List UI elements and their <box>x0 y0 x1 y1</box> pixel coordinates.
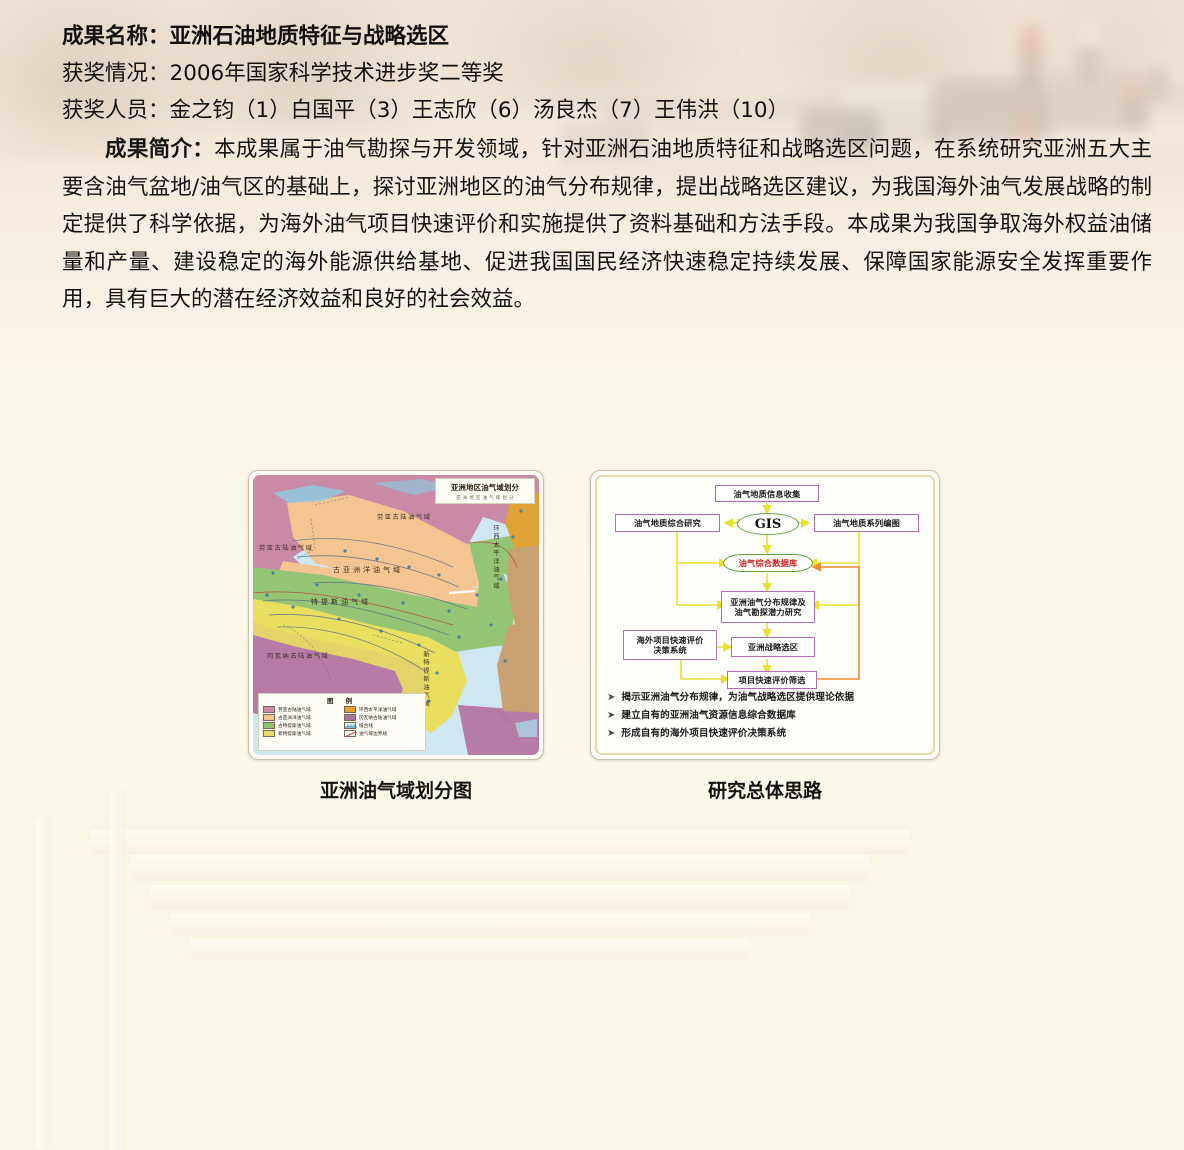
map-region-label: 冈瓦纳古陆油气域 <box>267 651 329 660</box>
flow-bullet-text: 建立自有的亚洲油气资源信息综合数据库 <box>621 709 796 722</box>
map-subtitle-text: 亚 洲 地 区 油 气 域 划 分 <box>456 495 513 501</box>
figure-caption-map: 亚洲油气域划分图 <box>248 776 544 803</box>
map-frame: 亚洲地区油气域划分 亚 洲 地 区 油 气 域 划 分 劳亚古陆油气域 劳亚古陆… <box>248 470 544 760</box>
achievement-title-label: 成果名称： <box>62 24 170 49</box>
legend-swatch-icon <box>263 706 275 713</box>
legend-swatch-icon <box>344 706 356 713</box>
map-region-label: 劳亚古陆油气域 <box>377 512 432 521</box>
legend-swatch-icon <box>263 714 275 721</box>
awardees-line: 获奖人员：金之钧（1）白国平（3）王志欣（6）汤良杰（7）王伟洪（10） <box>62 92 1152 129</box>
map-legend-label: 新特提斯油气域 <box>278 731 311 737</box>
slide-content: 成果名称：亚洲石油地质特征与战略选区 获奖情况：2006年国家科学技术进步奖二等… <box>0 0 1184 814</box>
flow-node-screening[interactable]: 项目快速评价筛选 <box>727 671 817 689</box>
chevron-right-icon: ➤ <box>607 727 615 740</box>
flow-bullet-list: ➤ 揭示亚洲油气分布规律，为油气战略选区提供理论依据 ➤ 建立自有的亚洲油气资源… <box>607 691 927 745</box>
map-legend-label: 油气域边界线 <box>359 731 387 737</box>
flow-bullet-item: ➤ 揭示亚洲油气分布规律，为油气战略选区提供理论依据 <box>607 691 927 704</box>
map-legend-label: 古特提斯油气域 <box>278 723 311 729</box>
background-pillar <box>110 790 126 1150</box>
figure-asia-oil-gas-map: 亚洲地区油气域划分 亚 洲 地 区 油 气 域 划 分 劳亚古陆油气域 劳亚古陆… <box>248 470 544 803</box>
map-legend-item: 古亚洲洋油气域 <box>263 714 340 721</box>
legend-swatch-icon <box>344 714 356 721</box>
map-legend: 图 例 劳亚古陆油气域 环西太平洋油气域 古亚洲洋油气域 冈瓦纳古陆油气域 古特… <box>258 693 426 751</box>
map-legend-item: 油气域边界线 <box>344 730 421 737</box>
map-legend-grid: 劳亚古陆油气域 环西太平洋油气域 古亚洲洋油气域 冈瓦纳古陆油气域 古特提斯油气… <box>263 706 421 737</box>
map-canvas: 亚洲地区油气域划分 亚 洲 地 区 油 气 域 划 分 劳亚古陆油气域 劳亚古陆… <box>253 475 539 755</box>
flow-bullet-text: 揭示亚洲油气分布规律，为油气战略选区提供理论依据 <box>621 691 854 704</box>
background-shelf <box>170 913 810 935</box>
map-region-label: 劳亚古陆油气域 <box>259 543 314 552</box>
map-region-label: 特提斯油气域 <box>311 597 371 607</box>
achievement-title-value: 亚洲石油地质特征与战略选区 <box>170 24 450 49</box>
map-legend-label: 缝合线 <box>359 723 373 729</box>
flow-node-collect[interactable]: 油气地质信息收集 <box>715 485 819 502</box>
flow-node-gis[interactable]: GIS <box>737 513 799 535</box>
flow-bullet-text: 形成自有的海外项目快速评价决策系统 <box>621 727 786 740</box>
map-legend-label: 环西太平洋油气域 <box>359 707 397 713</box>
text-block: 成果名称：亚洲石油地质特征与战略选区 获奖情况：2006年国家科学技术进步奖二等… <box>62 18 1152 319</box>
map-legend-label: 冈瓦纳古陆油气域 <box>359 715 397 721</box>
achievement-title-line: 成果名称：亚洲石油地质特征与战略选区 <box>62 18 1152 55</box>
map-legend-item: 新特提斯油气域 <box>263 730 340 737</box>
map-legend-item: 环西太平洋油气域 <box>344 706 421 713</box>
boundary-line-icon <box>344 730 356 737</box>
award-value: 2006年国家科学技术进步奖二等奖 <box>170 61 504 86</box>
map-region-label: 环西太平洋油气域 <box>491 525 500 655</box>
flow-node-strategic-area[interactable]: 亚洲战略选区 <box>731 637 815 657</box>
map-legend-item: 缝合线 <box>344 722 421 729</box>
map-legend-item: 劳亚古陆油气域 <box>263 706 340 713</box>
map-legend-label: 古亚洲洋油气域 <box>278 715 311 721</box>
map-legend-label: 劳亚古陆油气域 <box>278 707 311 713</box>
chevron-right-icon: ➤ <box>607 709 615 722</box>
award-line: 获奖情况：2006年国家科学技术进步奖二等奖 <box>62 55 1152 92</box>
flow-node-database[interactable]: 油气综合数据库 <box>723 554 813 572</box>
flow-node-research[interactable]: 油气地质综合研究 <box>615 514 720 532</box>
map-legend-title: 图 例 <box>263 696 421 705</box>
flow-bullet-item: ➤ 建立自有的亚洲油气资源信息综合数据库 <box>607 709 927 722</box>
flow-canvas: 油气地质信息收集 GIS 油气地质综合研究 油气地质系列编图 油气综合数据库 亚… <box>595 475 935 755</box>
map-legend-item: 冈瓦纳古陆油气域 <box>344 714 421 721</box>
background-shelf <box>130 855 870 881</box>
chevron-right-icon: ➤ <box>607 691 615 704</box>
background-shelf <box>190 939 750 959</box>
figure-research-approach: 油气地质信息收集 GIS 油气地质综合研究 油气地质系列编图 油气综合数据库 亚… <box>590 470 940 803</box>
background-shelf <box>90 830 910 854</box>
flow-frame: 油气地质信息收集 GIS 油气地质综合研究 油气地质系列编图 油气综合数据库 亚… <box>590 470 940 760</box>
abstract-body: 本成果属于油气勘探与开发领域，针对亚洲石油地质特征和战略选区问题，在系统研究亚洲… <box>62 137 1152 312</box>
flow-node-maps[interactable]: 油气地质系列编图 <box>814 514 919 532</box>
awardees-value: 金之钧（1）白国平（3）王志欣（6）汤良杰（7）王伟洪（10） <box>170 98 790 123</box>
awardees-label: 获奖人员： <box>62 98 170 123</box>
background-shelf <box>150 885 850 909</box>
suture-line-icon <box>344 722 356 729</box>
abstract-paragraph: 成果简介：本成果属于油气勘探与开发领域，针对亚洲石油地质特征和战略选区问题，在系… <box>62 131 1152 319</box>
figure-caption-flow: 研究总体思路 <box>590 776 940 803</box>
flow-bullet-item: ➤ 形成自有的海外项目快速评价决策系统 <box>607 727 927 740</box>
flow-node-decision-system[interactable]: 海外项目快速评价 决策系统 <box>623 630 717 660</box>
abstract-label: 成果简介： <box>105 137 214 162</box>
award-label: 获奖情况： <box>62 61 170 86</box>
background-pillar <box>36 818 52 1148</box>
legend-swatch-icon <box>263 722 275 729</box>
map-region-label: 古亚洲洋油气域 <box>333 565 403 575</box>
legend-swatch-icon <box>263 730 275 737</box>
flow-node-distribution-laws[interactable]: 亚洲油气分布规律及 油气勘探潜力研究 <box>721 591 815 623</box>
map-title-card: 亚洲地区油气域划分 亚 洲 地 区 油 气 域 划 分 <box>435 478 535 504</box>
map-title-text: 亚洲地区油气域划分 <box>451 482 519 493</box>
map-legend-item: 古特提斯油气域 <box>263 722 340 729</box>
